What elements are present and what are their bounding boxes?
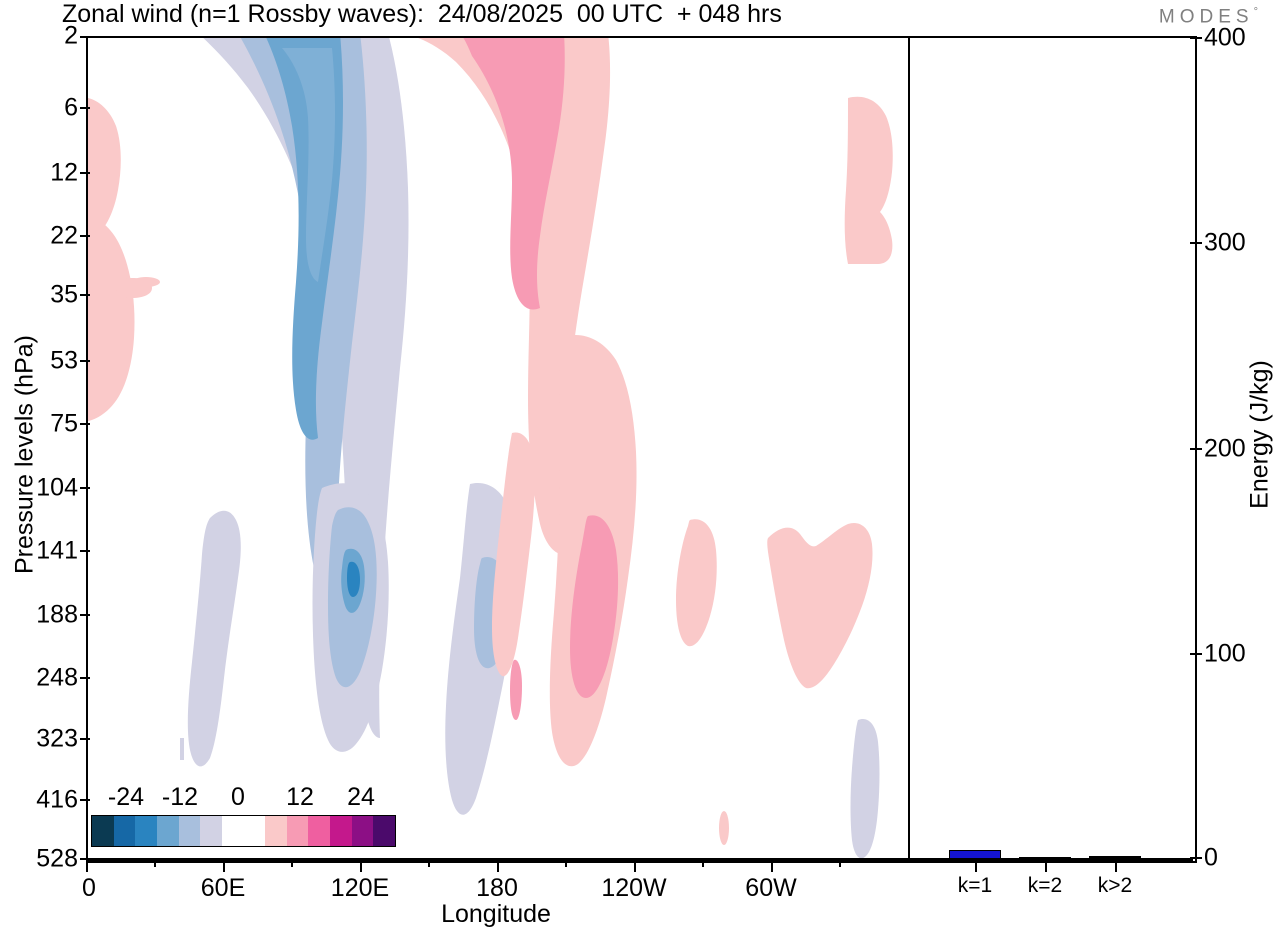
contour-neg-speck [180, 738, 184, 760]
colorbar-swatch-3 [157, 816, 179, 846]
xtick-minor-1 [154, 859, 156, 867]
ytick-right-mark-400 [1190, 37, 1202, 39]
zonal-wind-contour-panel [86, 36, 908, 863]
colorbar-swatch-1 [114, 816, 136, 846]
page-title: Zonal wind (n=1 Rossby waves): 24/08/202… [62, 0, 782, 29]
contour-pos-cell-165e [492, 433, 535, 677]
ktick-mark-k2 [1045, 859, 1047, 872]
x-axis-line [86, 858, 1193, 861]
ytick-right-400: 400 [1204, 24, 1246, 53]
colorbar-swatch-7 [243, 816, 265, 846]
xtick-mark-60e [223, 859, 225, 872]
ytick-mark-2 [80, 36, 90, 38]
ytick-mark-22 [80, 235, 90, 237]
xtick-label-180: 180 [476, 874, 518, 903]
ytick-right-300: 300 [1204, 229, 1246, 258]
ytick-mark-104 [80, 487, 90, 489]
y-axis-label-left: Pressure levels (hPa) [11, 225, 40, 685]
colorbar [91, 815, 396, 847]
xtick-label-120w: 120W [601, 874, 666, 903]
colorbar-label-12: 12 [286, 783, 314, 812]
contour-field [88, 38, 908, 861]
colorbar-label-m12: -12 [162, 783, 198, 812]
ytick-label-323: 323 [0, 725, 78, 754]
xtick-minor-4 [565, 859, 567, 867]
xtick-minor-3 [428, 859, 430, 867]
ktick-label-kgt2: k>2 [1098, 874, 1132, 898]
contour-pos-right-strato [845, 97, 893, 264]
ytick-mark-141 [80, 550, 90, 552]
xtick-mark-60w [771, 859, 773, 872]
xtick-label-0: 0 [82, 874, 96, 903]
chart-root: Zonal wind (n=1 Rossby waves): 24/08/202… [0, 0, 1280, 930]
colorbar-swatch-11 [330, 816, 352, 846]
ktick-label-k1: k=1 [958, 874, 992, 898]
ytick-label-6: 6 [0, 94, 78, 123]
colorbar-swatch-9 [287, 816, 309, 846]
ytick-mark-35 [80, 294, 90, 296]
colorbar-label-24: 24 [347, 783, 375, 812]
modes-logo-mark: ° [1254, 6, 1258, 18]
ytick-mark-6 [80, 107, 90, 109]
colorbar-label-m24: -24 [108, 783, 144, 812]
ytick-label-2: 2 [0, 22, 78, 51]
ytick-mark-416 [80, 799, 90, 801]
colorbar-swatch-5 [200, 816, 222, 846]
ytick-mark-323 [80, 738, 90, 740]
contour-pos-cell-165e-core [510, 660, 522, 720]
colorbar-swatch-0 [92, 816, 114, 846]
xtick-mark-0 [86, 859, 88, 872]
contour-neg-cell4-l1 [851, 719, 880, 858]
contour-pos-speck-upper [132, 277, 160, 287]
xtick-label-120e: 120E [331, 874, 389, 903]
y-axis-label-right: Energy (J/kg) [1246, 205, 1275, 665]
contour-pos-cell-75w [767, 523, 872, 688]
ytick-label-12: 12 [0, 159, 78, 188]
ytick-right-100: 100 [1204, 640, 1246, 669]
contour-neg-cell1-l1 [188, 511, 241, 767]
xtick-mark-120w [634, 859, 636, 872]
colorbar-label-0: 0 [231, 783, 245, 812]
contour-pos-cell-130w [676, 519, 717, 646]
x-axis-label: Longitude [86, 900, 906, 929]
ytick-label-528: 528 [0, 845, 78, 874]
colorbar-swatch-4 [179, 816, 201, 846]
colorbar-swatch-6 [222, 816, 244, 846]
ktick-mark-kgt2 [1115, 859, 1117, 872]
ytick-mark-188 [80, 614, 90, 616]
xtick-mark-180 [497, 859, 499, 872]
colorbar-swatch-13 [373, 816, 395, 846]
colorbar-swatch-2 [135, 816, 157, 846]
ytick-mark-75 [80, 423, 90, 425]
contour-pos-left-edge-lower [88, 216, 135, 421]
ytick-label-416: 416 [0, 786, 78, 815]
energy-spectrum-panel [908, 36, 1197, 863]
ytick-right-0: 0 [1204, 844, 1218, 873]
ytick-right-mark-100 [1190, 653, 1202, 655]
colorbar-swatch-12 [352, 816, 374, 846]
ytick-mark-248 [80, 677, 90, 679]
xtick-minor-6 [839, 859, 841, 867]
contour-pos-speck-low [719, 811, 729, 845]
xtick-label-60w: 60W [745, 874, 796, 903]
colorbar-swatch-10 [308, 816, 330, 846]
ktick-mark-k1 [975, 859, 977, 872]
ktick-label-k2: k=2 [1028, 874, 1062, 898]
ytick-right-mark-200 [1190, 448, 1202, 450]
ytick-mark-53 [80, 360, 90, 362]
colorbar-swatch-8 [265, 816, 287, 846]
xtick-mark-120e [360, 859, 362, 872]
ytick-mark-12 [80, 172, 90, 174]
ytick-right-200: 200 [1204, 435, 1246, 464]
xtick-minor-2 [291, 859, 293, 867]
xtick-minor-5 [702, 859, 704, 867]
ytick-right-mark-300 [1190, 242, 1202, 244]
xtick-label-60e: 60E [201, 874, 245, 903]
